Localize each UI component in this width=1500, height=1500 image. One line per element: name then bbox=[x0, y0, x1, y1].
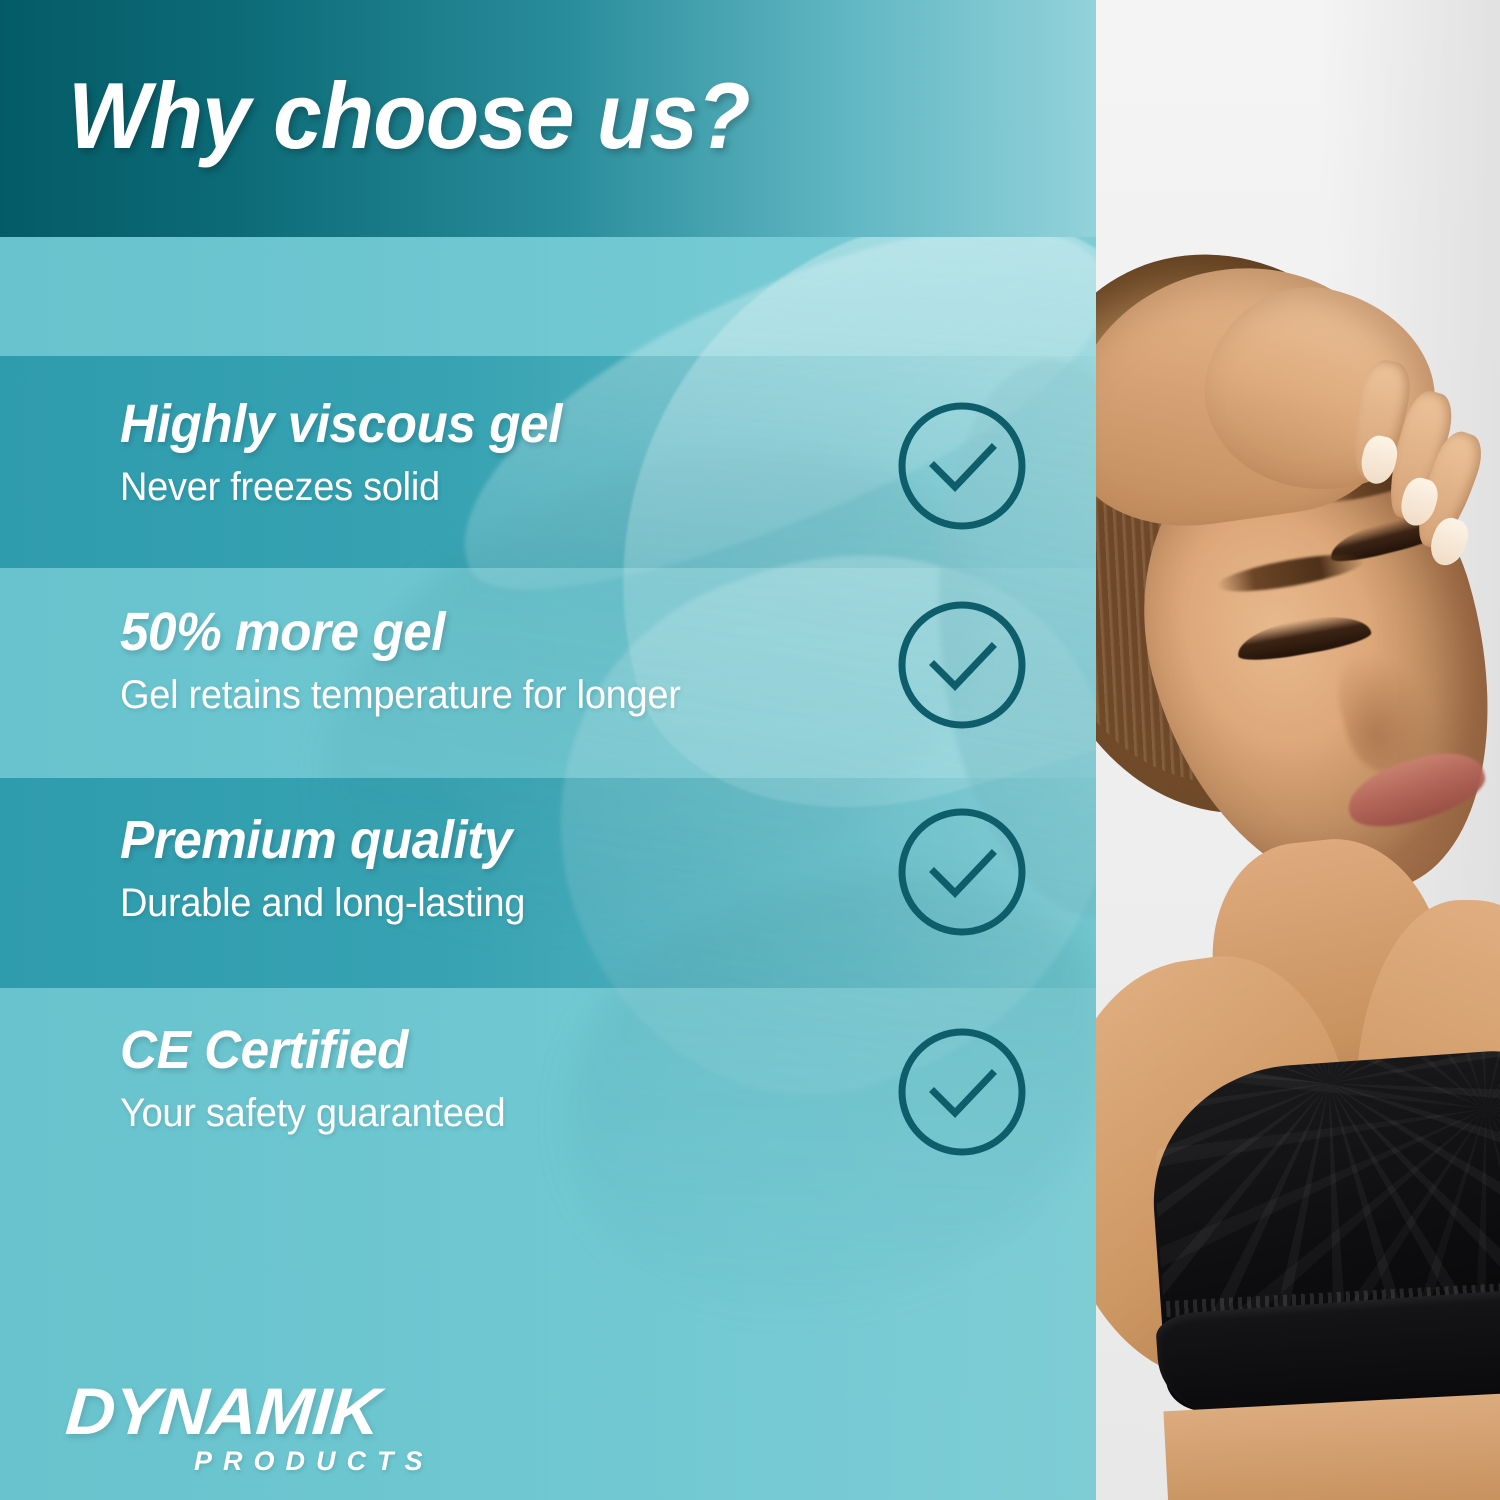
feature-item-4: CE Certified Your safety guaranteed bbox=[120, 1022, 880, 1135]
feature-title: Premium quality bbox=[120, 812, 842, 869]
check-circle-icon bbox=[894, 1024, 1030, 1160]
brand-logo: DYNAMIK PRODUCTS bbox=[66, 1378, 486, 1488]
infographic-canvas: Why choose us? Highly viscous gel Never … bbox=[0, 0, 1500, 1500]
brand-name: DYNAMIK bbox=[64, 1378, 506, 1444]
page-title: Why choose us? bbox=[68, 62, 750, 170]
brand-tagline: PRODUCTS bbox=[194, 1448, 486, 1475]
check-circle-icon bbox=[894, 597, 1030, 733]
check-circle-icon bbox=[894, 398, 1030, 534]
feature-subtitle: Never freezes solid bbox=[120, 465, 842, 509]
feature-item-1: Highly viscous gel Never freezes solid bbox=[120, 396, 880, 509]
feature-subtitle: Gel retains temperature for longer bbox=[120, 673, 842, 717]
feature-title: CE Certified bbox=[120, 1022, 842, 1079]
feature-title: 50% more gel bbox=[120, 604, 842, 661]
feature-title: Highly viscous gel bbox=[120, 396, 842, 453]
feature-subtitle: Your safety guaranteed bbox=[120, 1091, 842, 1135]
feature-item-2: 50% more gel Gel retains temperature for… bbox=[120, 604, 880, 717]
feature-item-3: Premium quality Durable and long-lasting bbox=[120, 812, 880, 925]
feature-panel: Why choose us? Highly viscous gel Never … bbox=[0, 0, 1096, 1500]
check-circle-icon bbox=[894, 804, 1030, 940]
feature-subtitle: Durable and long-lasting bbox=[120, 881, 842, 925]
lifestyle-photo bbox=[1096, 0, 1500, 1500]
